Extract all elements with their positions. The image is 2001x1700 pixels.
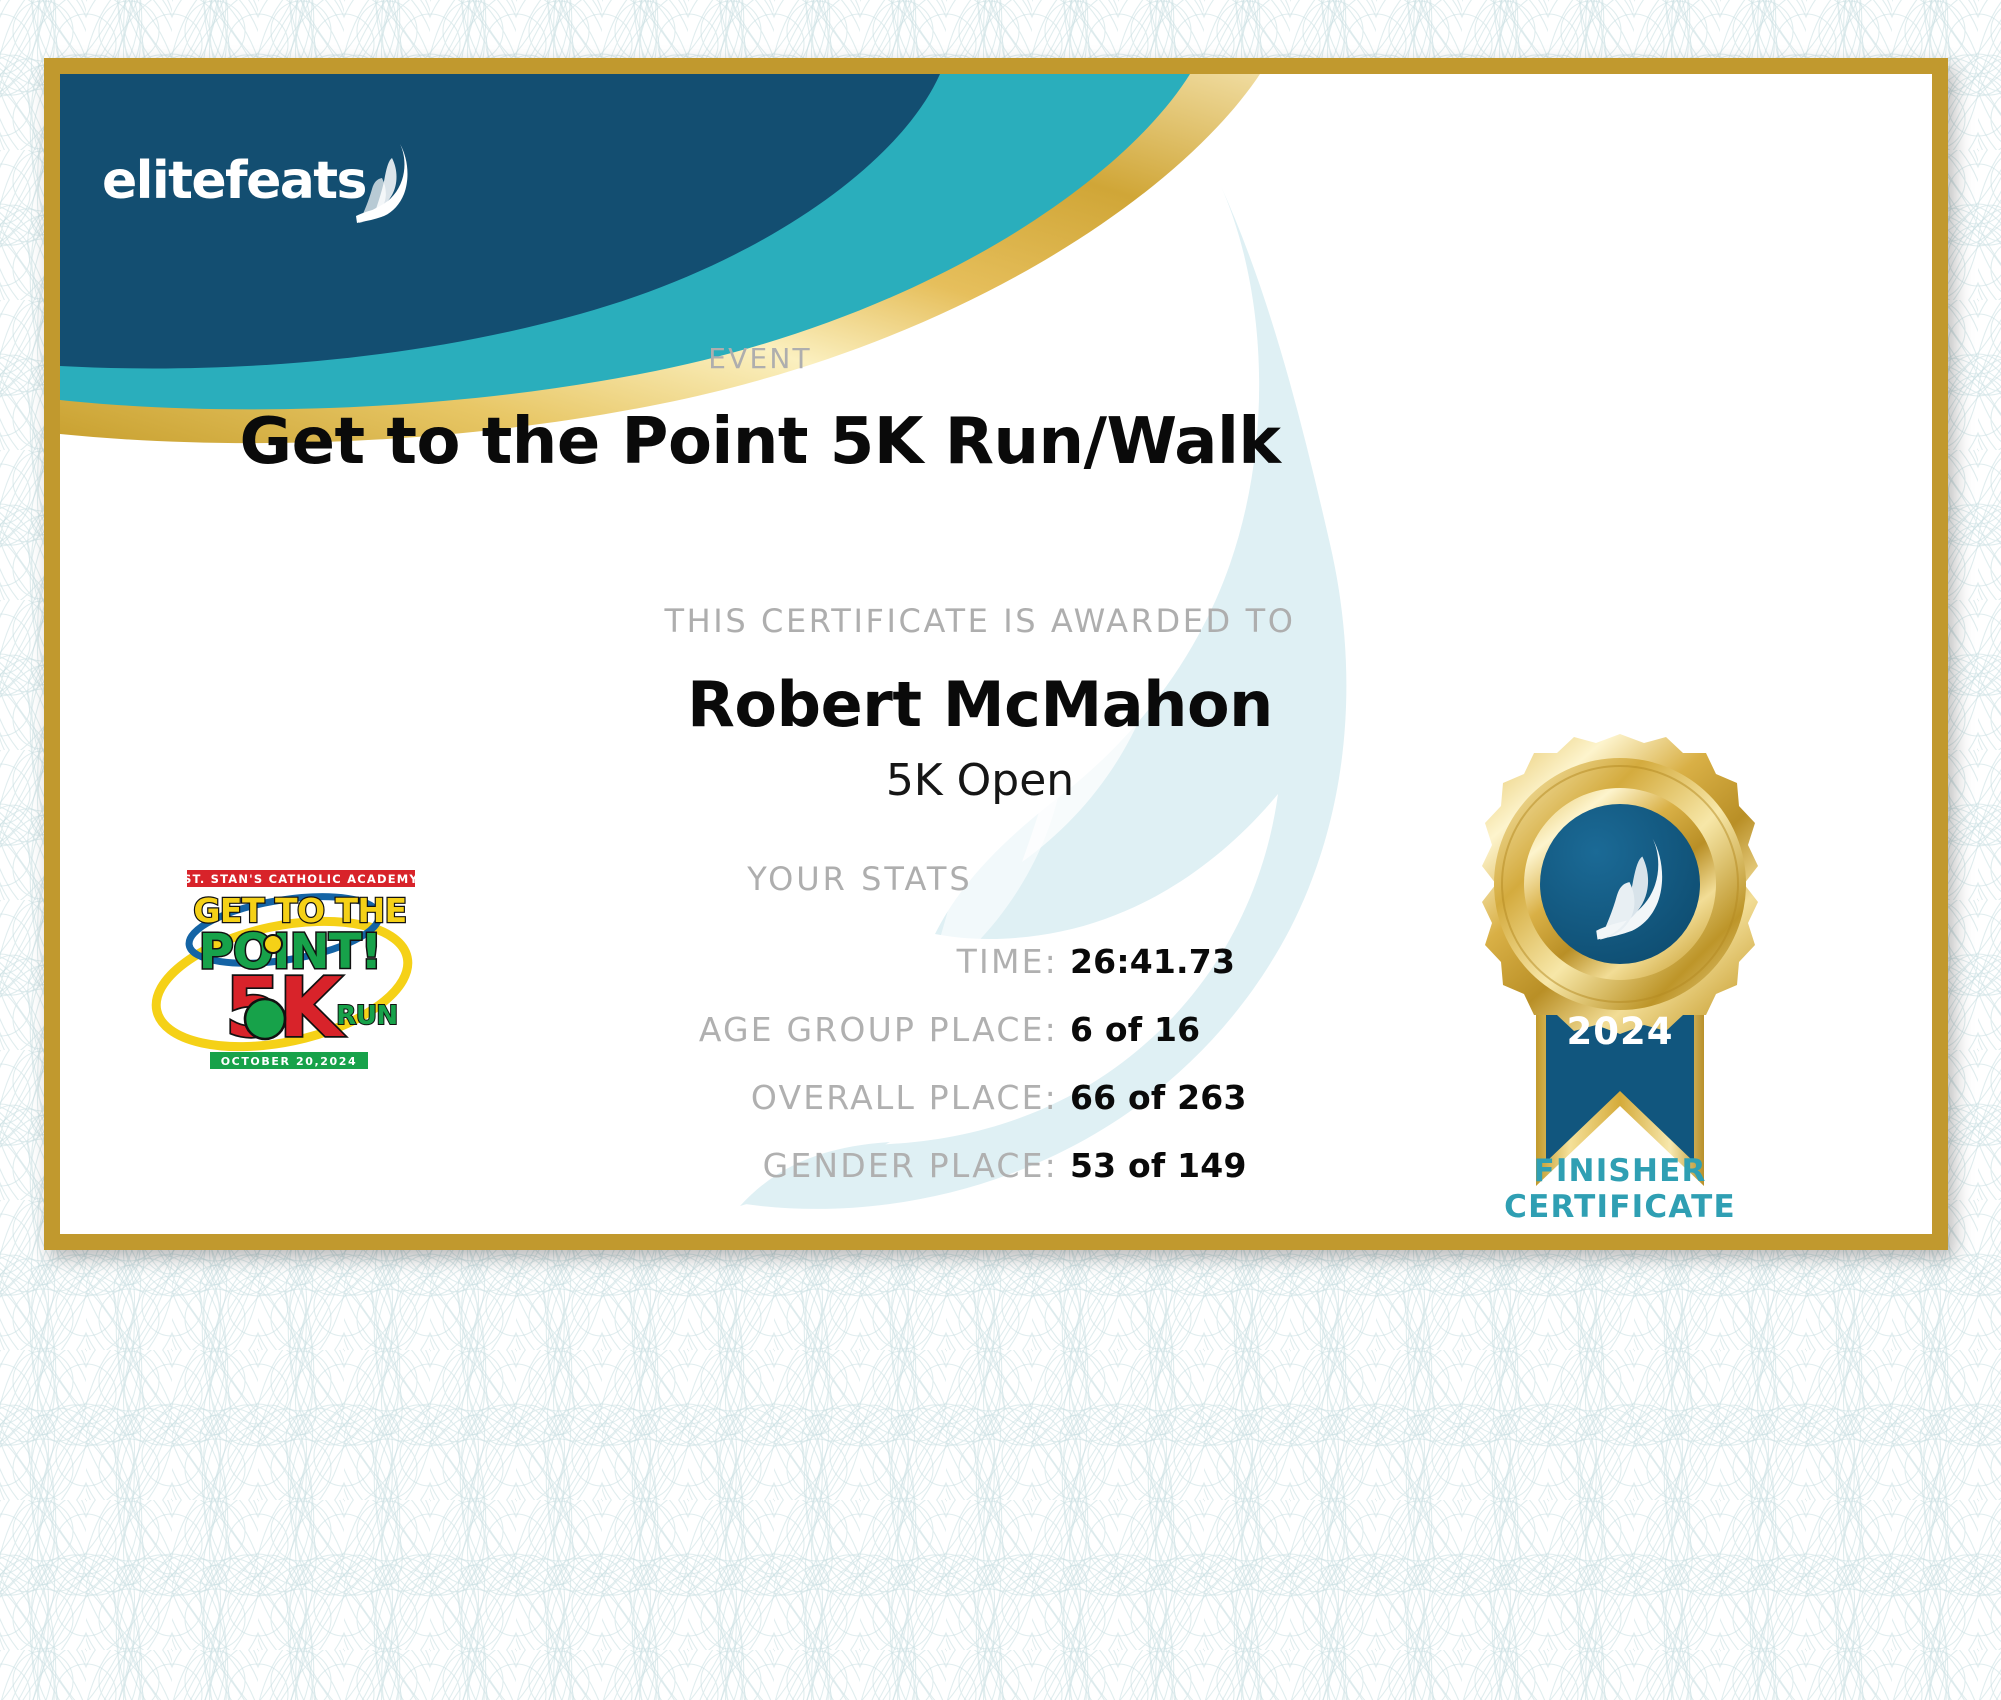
stat-value: 26:41.73	[1070, 942, 1280, 981]
stat-value: 53 of 149	[1070, 1146, 1280, 1185]
stats-table: TIME: 26:41.73 AGE GROUP PLACE: 6 of 16 …	[360, 942, 1280, 1214]
certificate-page: elitefeats EVENT Get to the Point 5K Ru	[0, 0, 2001, 1700]
medal-caption-line2: CERTIFICATE	[1450, 1190, 1790, 1226]
elitefeats-logo: elitefeats	[102, 136, 422, 226]
race-event-logo: ST. STAN'S CATHOLIC ACADEMY GET TO THE P…	[132, 864, 432, 1084]
medal-year: 2024	[1567, 1010, 1674, 1053]
event-name: Get to the Point 5K Run/Walk	[60, 405, 1460, 479]
stat-row-overall-place: OVERALL PLACE: 66 of 263	[360, 1078, 1280, 1146]
awarded-to-label: THIS CERTIFICATE IS AWARDED TO	[60, 602, 1900, 640]
race-logo-line3: 5K	[225, 961, 346, 1056]
stat-key: TIME:	[957, 942, 1058, 981]
race-logo-date: OCTOBER 20,2024	[221, 1055, 358, 1068]
stat-value: 6 of 16	[1070, 1010, 1280, 1049]
event-block: EVENT Get to the Point 5K Run/Walk	[60, 342, 1460, 479]
stat-key: OVERALL PLACE:	[751, 1078, 1058, 1117]
stat-key: GENDER PLACE:	[763, 1146, 1058, 1185]
winged-foot-icon	[348, 142, 420, 224]
race-logo-presenter: ST. STAN'S CATHOLIC ACADEMY	[183, 872, 419, 886]
stat-value: 66 of 263	[1070, 1078, 1280, 1117]
race-logo-line4: RUN	[336, 1001, 397, 1031]
stat-row-gender-place: GENDER PLACE: 53 of 149	[360, 1146, 1280, 1214]
recipient-name: Robert McMahon	[60, 668, 1900, 741]
certificate-body: elitefeats EVENT Get to the Point 5K Ru	[60, 74, 1932, 1234]
stat-row-age-group-place: AGE GROUP PLACE: 6 of 16	[360, 1010, 1280, 1078]
medal-caption: FINISHER CERTIFICATE	[1450, 1154, 1790, 1226]
stat-row-time: TIME: 26:41.73	[360, 942, 1280, 1010]
medal-caption-line1: FINISHER	[1450, 1154, 1790, 1190]
stat-key: AGE GROUP PLACE:	[699, 1010, 1058, 1049]
event-label: EVENT	[60, 342, 1460, 375]
